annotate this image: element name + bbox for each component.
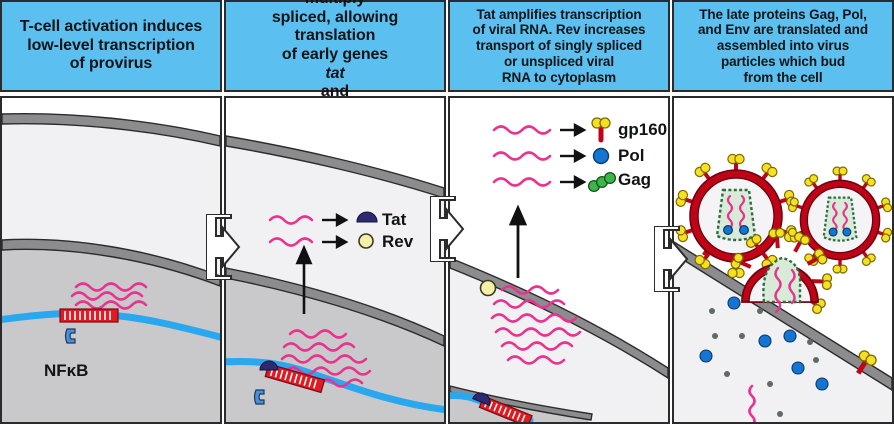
panel-2-body: Tat Rev	[224, 96, 446, 424]
integrated-provirus	[60, 309, 118, 322]
panel-3-caption-line-1: Tat amplifies transcription	[473, 7, 646, 23]
panel-1-caption: T-cell activation induces low-level tran…	[0, 0, 222, 92]
panel-4-caption: The late proteins Gag, Pol, and Env are …	[672, 0, 894, 92]
panel-1-caption-line-1: T-cell activation induces	[20, 18, 202, 37]
panel-2-cell-diagram	[226, 98, 444, 422]
gp160-legend-label: gp160	[618, 120, 667, 140]
pol-in-core	[740, 226, 749, 235]
panel-3-caption-line-2: of viral RNA. Rev increases	[473, 22, 646, 38]
panel-2-caption-line-1: RNA transcripts are multiply	[232, 0, 438, 9]
pol-in-core	[724, 226, 733, 235]
panel-3-body: gp160 Pol Gag	[448, 96, 670, 424]
rev-protein	[481, 281, 496, 296]
panel-1: T-cell activation induces low-level tran…	[0, 0, 222, 424]
rev-legend-label: Rev	[382, 232, 413, 252]
panel-4-body	[672, 96, 894, 424]
panel-1-cell-diagram	[2, 98, 220, 422]
panel-1-caption-line-3: of provirus	[20, 55, 202, 74]
capsid-core	[717, 190, 755, 240]
panel-3-caption: Tat amplifies transcription of viral RNA…	[448, 0, 670, 92]
panel-2-caption-line-2: spliced, allowing translation	[232, 9, 438, 46]
panel-3-caption-line-5: RNA to cytoplasm	[473, 70, 646, 86]
panel-4-cell-diagram	[674, 98, 892, 422]
tat-legend-label: Tat	[382, 210, 406, 230]
nfkb-label: NFκB	[44, 361, 88, 381]
panel-3: Tat amplifies transcription of viral RNA…	[448, 0, 670, 424]
gene-tat: tat	[232, 65, 438, 84]
rev-glyph	[359, 234, 373, 248]
gag-legend-label: Gag	[618, 170, 651, 190]
pol-legend-label: Pol	[618, 146, 644, 166]
panel-3-caption-line-4: or unspliced viral	[473, 54, 646, 70]
panel-4-caption-line-4: particles which bud	[698, 54, 868, 70]
connector-arrow-1-2	[206, 214, 242, 280]
panel-3-caption-line-3: transport of singly spliced	[473, 38, 646, 54]
panel-4-caption-line-1: The late proteins Gag, Pol,	[698, 7, 868, 23]
capsid-core	[824, 198, 857, 241]
panel-4-caption-line-2: and Env are translated and	[698, 22, 868, 38]
panel-2: RNA transcripts are multiply spliced, al…	[224, 0, 446, 424]
panel-2-caption: RNA transcripts are multiply spliced, al…	[224, 0, 446, 92]
panel-1-body: NFκB	[0, 96, 222, 424]
pol-glyph	[594, 149, 609, 164]
panel-1-caption-line-2: low-level transcription	[20, 37, 202, 56]
panel-4-caption-line-5: from the cell	[698, 70, 868, 86]
panel-4: The late proteins Gag, Pol, and Env are …	[672, 0, 894, 424]
panel-4-caption-line-3: assembled into virus	[698, 38, 868, 54]
connector-arrow-2-3	[430, 196, 466, 262]
figure-root: T-cell activation induces low-level tran…	[0, 0, 894, 424]
connector-arrow-3-4	[654, 226, 690, 292]
